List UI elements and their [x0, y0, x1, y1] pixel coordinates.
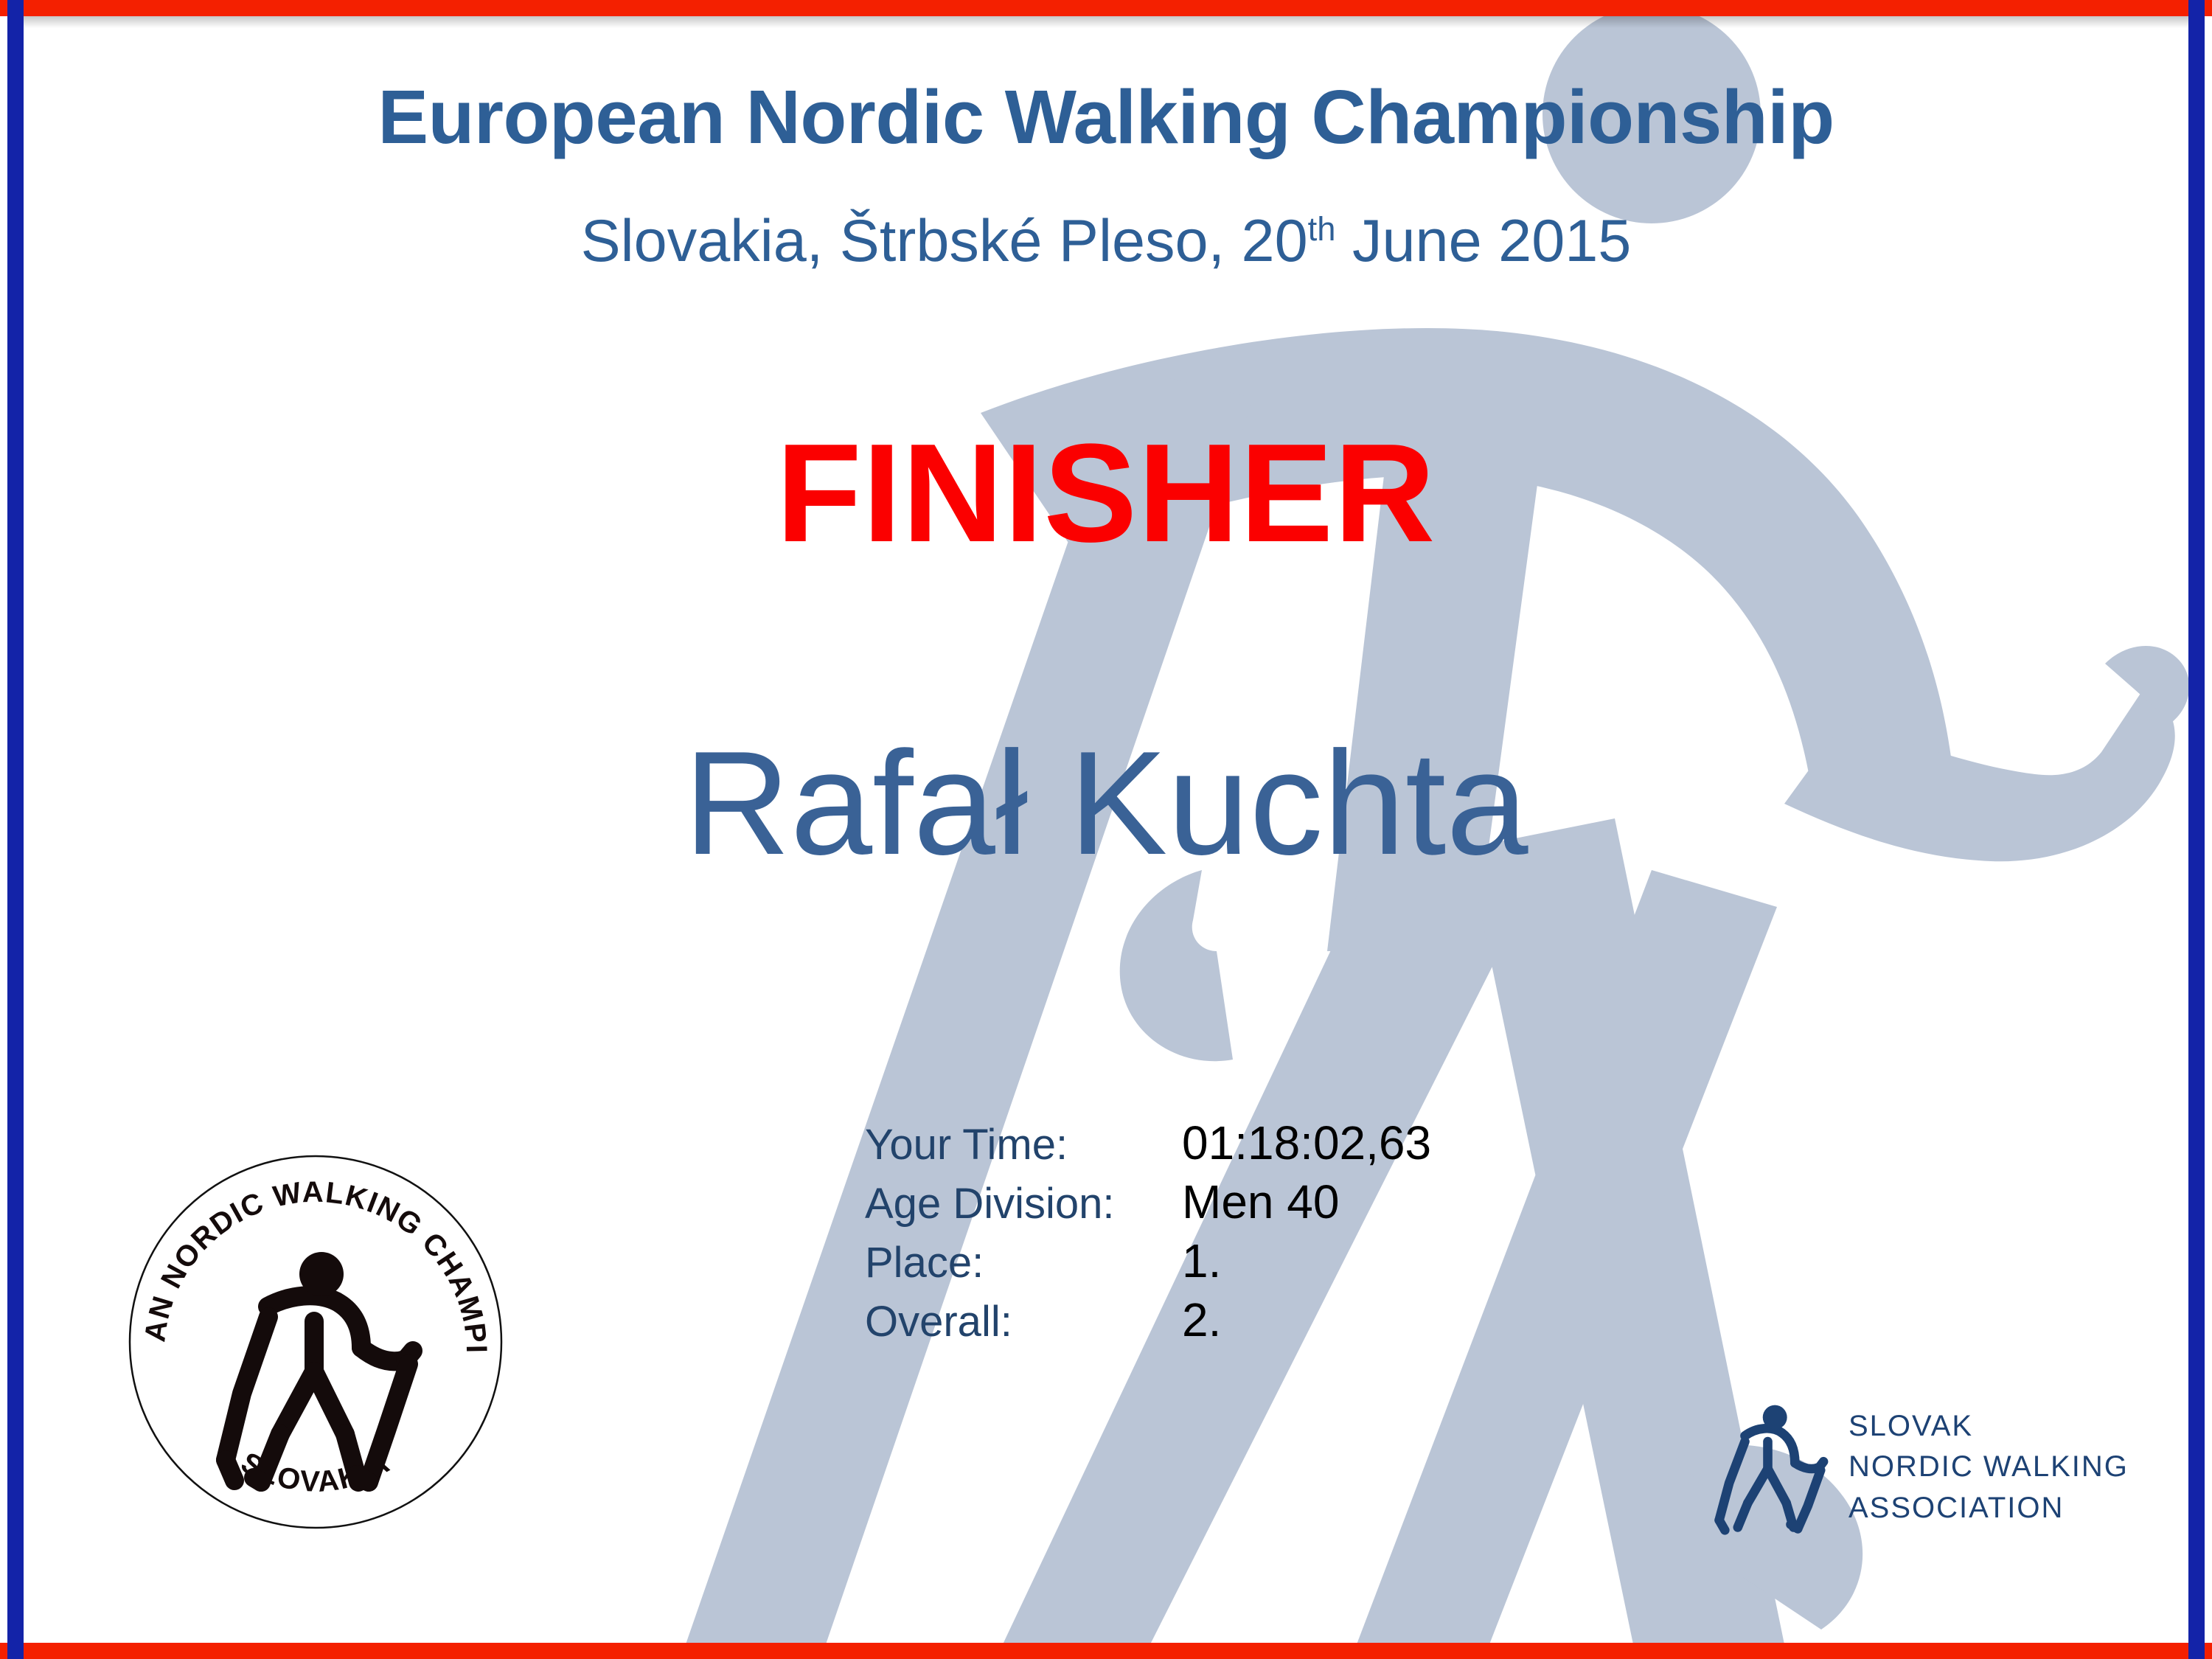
result-label-overall: Overall:: [865, 1297, 1182, 1346]
association-logo-text: SLOVAK NORDIC WALKING ASSOCIATION: [1848, 1406, 2129, 1528]
association-nordic-walker-icon: [1703, 1397, 1832, 1537]
athlete-name: Rafał Kuchta: [0, 726, 2212, 881]
result-value-age-division: Men 40: [1182, 1175, 1339, 1229]
result-label-age-division: Age Division:: [865, 1179, 1182, 1228]
result-value-your-time: 01:18:02,63: [1182, 1116, 1431, 1170]
subtitle-suffix: June 2015: [1336, 208, 1632, 274]
association-line-2: NORDIC WALKING: [1848, 1447, 2129, 1487]
table-row: Your Time: 01:18:02,63: [865, 1116, 1573, 1175]
result-value-overall: 2.: [1182, 1293, 1221, 1347]
results-table: Your Time: 01:18:02,63 Age Division: Men…: [865, 1116, 1573, 1352]
subtitle-prefix: Slovakia, Štrbské Pleso, 20: [581, 208, 1308, 274]
frame-right-bar: [2188, 0, 2205, 1659]
result-label-place: Place:: [865, 1238, 1182, 1287]
frame-bottom-bar: [0, 1643, 2212, 1659]
table-row: Age Division: Men 40: [865, 1175, 1573, 1234]
table-row: Place: 1.: [865, 1234, 1573, 1293]
page-title: European Nordic Walking Championship: [0, 77, 2212, 157]
nordic-walker-head: [299, 1252, 344, 1296]
association-line-3: ASSOCIATION: [1848, 1488, 2129, 1528]
table-row: Overall: 2.: [865, 1293, 1573, 1352]
result-value-place: 1.: [1182, 1234, 1221, 1288]
association-line-1: SLOVAK: [1848, 1406, 2129, 1447]
frame-top-bar: [0, 0, 2212, 16]
result-label-your-time: Your Time:: [865, 1120, 1182, 1169]
subtitle-ordinal-suffix: th: [1308, 210, 1336, 248]
certificate-page: European Nordic Walking Championship Slo…: [0, 0, 2212, 1659]
association-logo: SLOVAK NORDIC WALKING ASSOCIATION: [1703, 1394, 2116, 1541]
event-subtitle: Slovakia, Štrbské Pleso, 20th June 2015: [0, 210, 2212, 273]
association-walker-head: [1763, 1405, 1787, 1430]
event-logo: EUROPEAN NORDIC WALKING CHAMPIONSHIP SLO…: [124, 1150, 507, 1534]
frame-left-bar: [7, 0, 24, 1659]
award-label: FINISHER: [0, 420, 2212, 568]
